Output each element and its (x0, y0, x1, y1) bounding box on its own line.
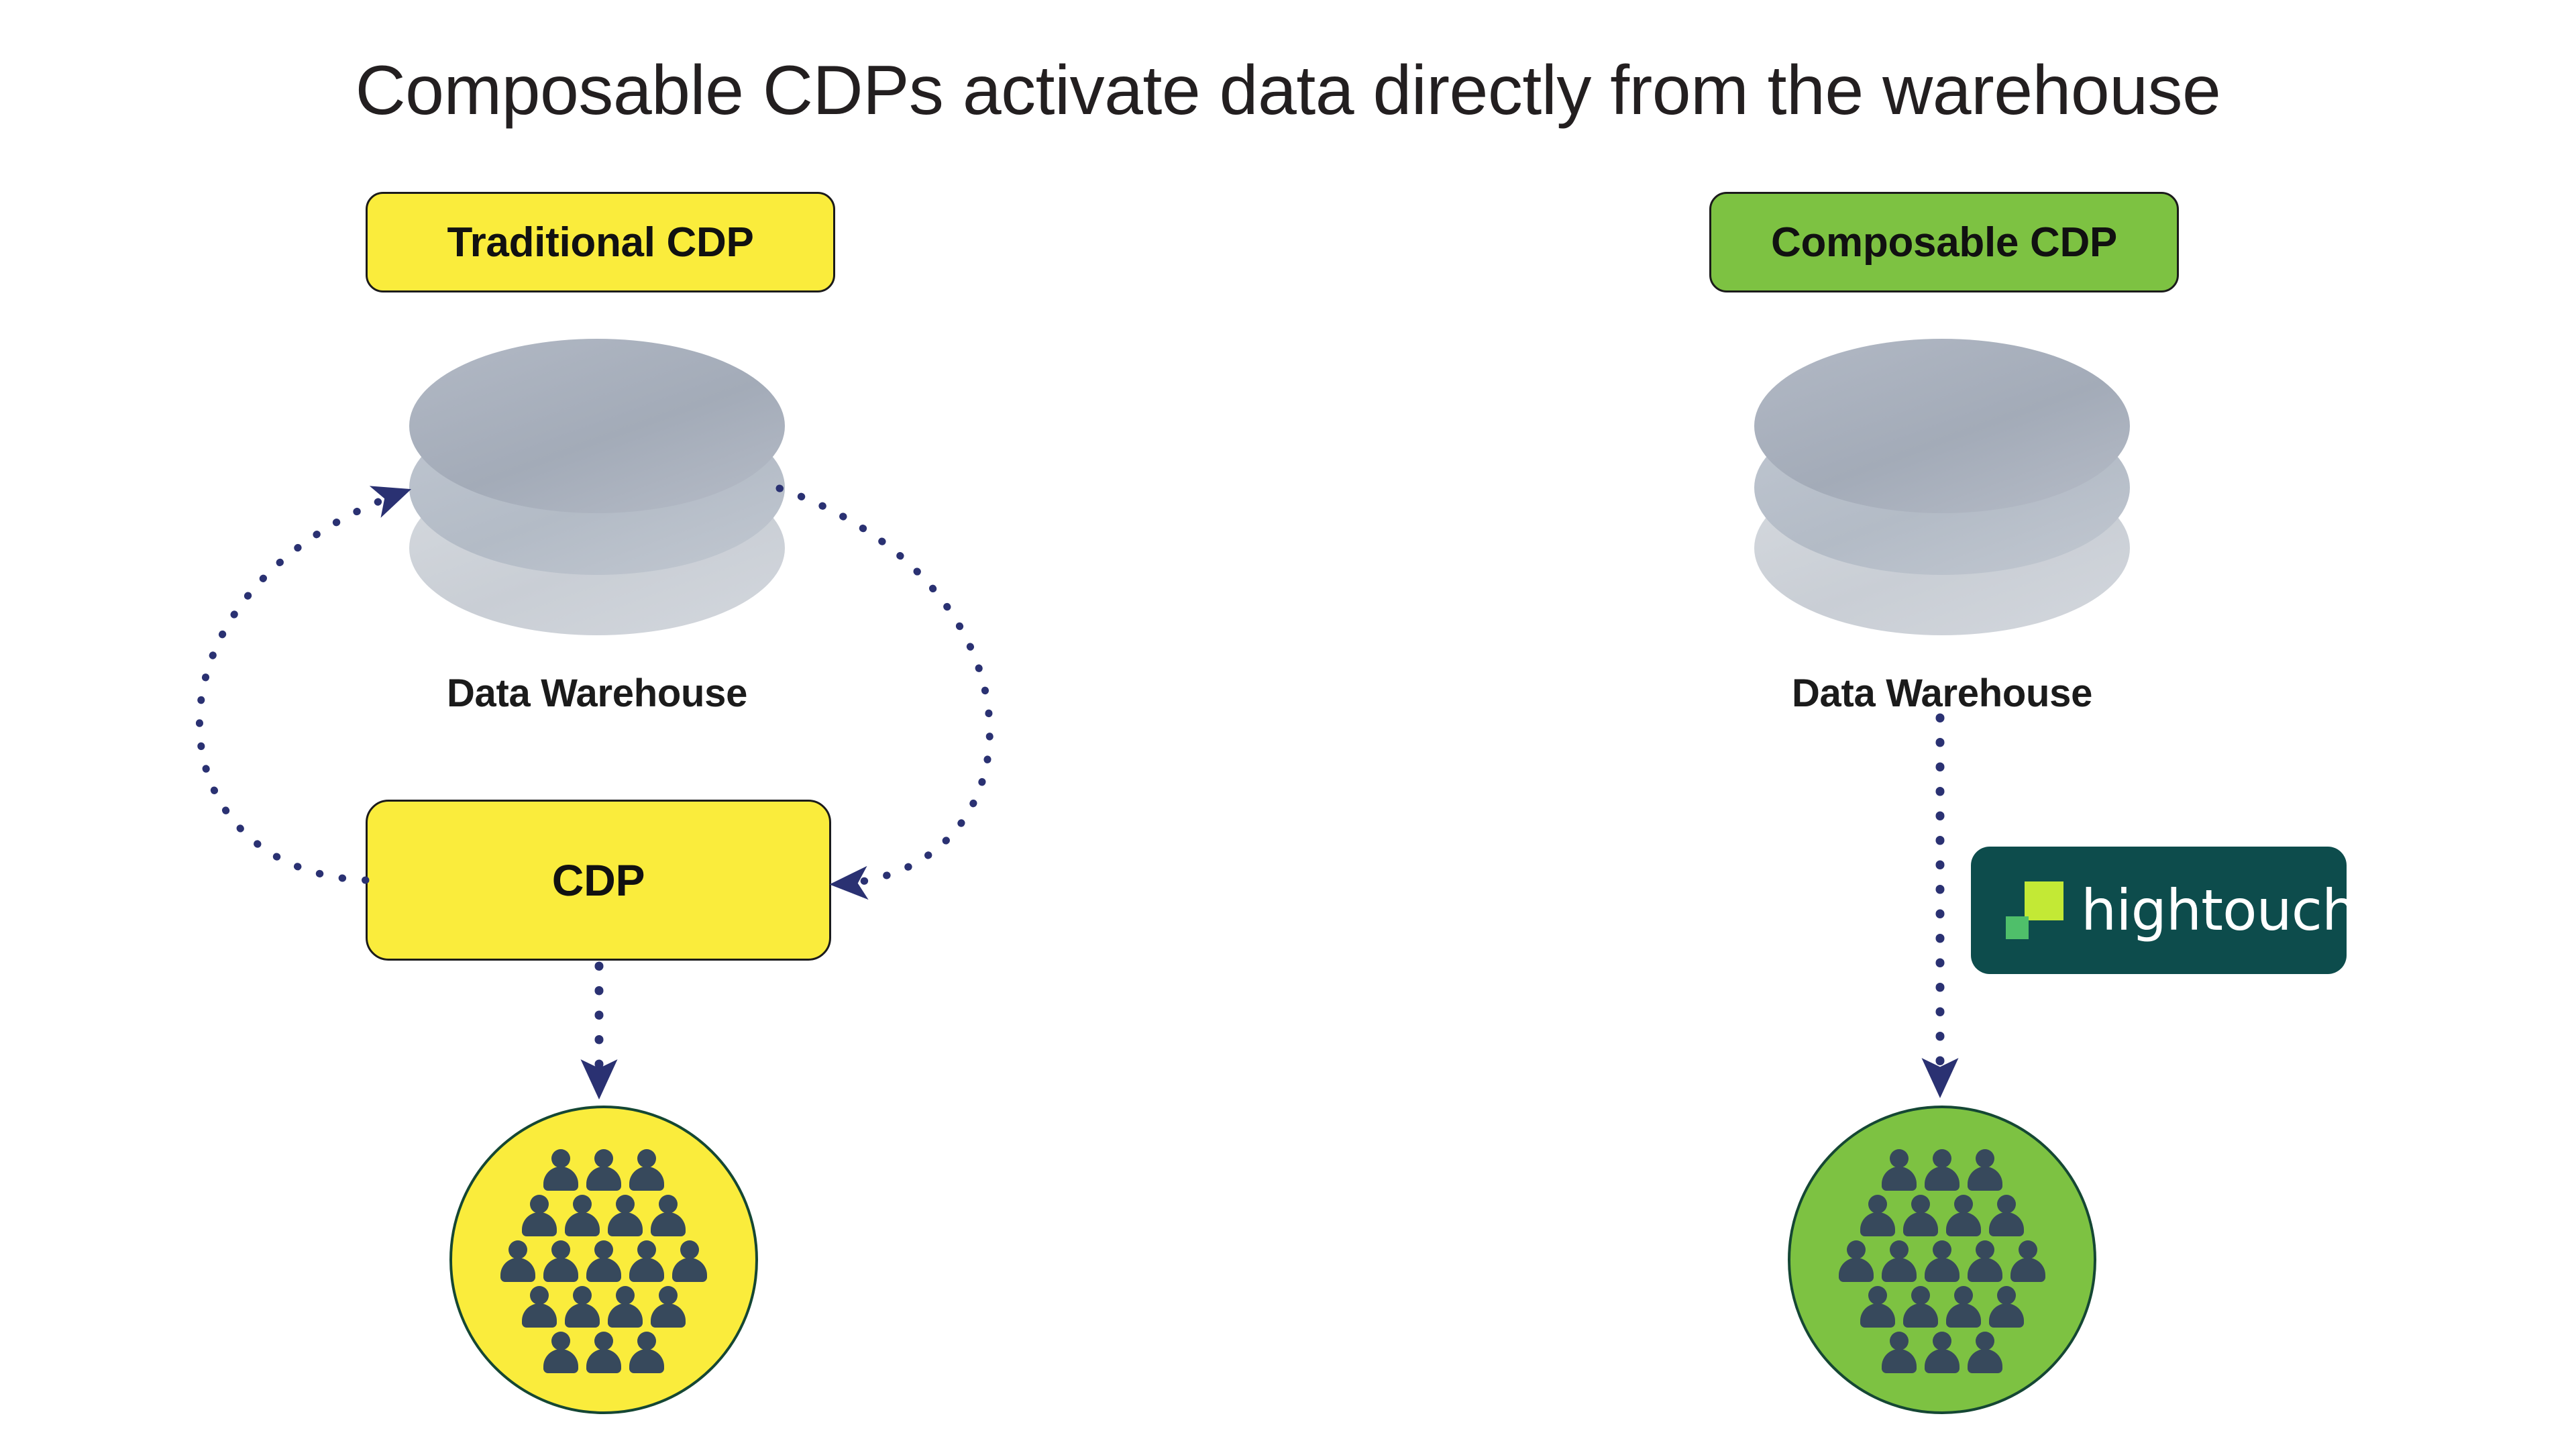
person-head (1933, 1149, 1951, 1168)
cdp-box: CDP (366, 800, 831, 961)
person-body (1903, 1212, 1938, 1236)
audience-row (543, 1332, 665, 1373)
person-body (565, 1212, 600, 1236)
person-body (651, 1303, 686, 1328)
person-head (637, 1240, 656, 1259)
person-icon (672, 1240, 708, 1282)
db-disc-top (1754, 339, 2130, 513)
audience-circle-traditional (449, 1106, 758, 1414)
person-body (1946, 1303, 1981, 1328)
person-icon (1967, 1240, 2003, 1282)
person-head (551, 1240, 570, 1259)
person-head (616, 1195, 635, 1214)
person-icon (629, 1332, 665, 1373)
audience-row (1881, 1149, 2003, 1191)
person-icon (586, 1149, 622, 1191)
person-icon (607, 1286, 643, 1328)
person-body (543, 1258, 578, 1282)
person-head (637, 1149, 656, 1168)
person-icon (500, 1240, 536, 1282)
person-head (1976, 1332, 1994, 1350)
person-icon (1860, 1286, 1896, 1328)
person-head (594, 1332, 613, 1350)
person-head (530, 1195, 549, 1214)
person-body (1882, 1167, 1917, 1191)
person-head (1954, 1195, 1973, 1214)
person-icon (1967, 1149, 2003, 1191)
person-body (1925, 1167, 1960, 1191)
person-icon (1988, 1286, 2025, 1328)
person-icon (1945, 1195, 1982, 1236)
data-warehouse-label-right: Data Warehouse (1640, 671, 2244, 716)
person-head (1890, 1149, 1909, 1168)
person-head (616, 1286, 635, 1305)
person-head (551, 1149, 570, 1168)
person-body (1839, 1258, 1874, 1282)
person-head (1933, 1240, 1951, 1259)
person-body (1903, 1303, 1938, 1328)
person-head (2019, 1240, 2037, 1259)
person-icon (650, 1195, 686, 1236)
person-body (672, 1258, 707, 1282)
person-body (1925, 1349, 1960, 1373)
person-head (1997, 1286, 2016, 1305)
hightouch-wordmark: hightouch (2081, 882, 2357, 938)
person-head (1890, 1332, 1909, 1350)
hightouch-squares-mark-icon (2006, 881, 2063, 939)
person-head (1911, 1286, 1930, 1305)
db-disc-top (409, 339, 785, 513)
person-body (1925, 1258, 1960, 1282)
person-icon (1988, 1195, 2025, 1236)
person-icon (543, 1240, 579, 1282)
person-head (508, 1240, 527, 1259)
logo-square-large (2025, 881, 2063, 920)
logo-square-small (2006, 916, 2029, 939)
person-body (586, 1167, 621, 1191)
person-body (1946, 1212, 1981, 1236)
person-head (1890, 1240, 1909, 1259)
audience-row (1860, 1286, 2025, 1328)
person-head (1868, 1195, 1887, 1214)
audience-row (500, 1240, 708, 1282)
person-body (543, 1167, 578, 1191)
person-body (543, 1349, 578, 1373)
person-body (1989, 1212, 2024, 1236)
audience-row (1860, 1195, 2025, 1236)
diagram-canvas: Composable CDPs activate data directly f… (0, 0, 2576, 1449)
person-body (2010, 1258, 2045, 1282)
person-body (522, 1303, 557, 1328)
person-body (629, 1167, 664, 1191)
person-icon (1860, 1195, 1896, 1236)
person-body (565, 1303, 600, 1328)
person-body (500, 1258, 535, 1282)
person-head (1933, 1332, 1951, 1350)
person-body (608, 1303, 643, 1328)
composable-cdp-badge: Composable CDP (1709, 192, 2179, 292)
person-icon (1902, 1195, 1939, 1236)
audience-row (1881, 1332, 2003, 1373)
person-body (1882, 1258, 1917, 1282)
person-head (594, 1240, 613, 1259)
person-icon (543, 1332, 579, 1373)
database-stack-icon-left (409, 339, 785, 641)
person-head (659, 1195, 678, 1214)
person-icon (650, 1286, 686, 1328)
person-head (1847, 1240, 1866, 1259)
person-body (1989, 1303, 2024, 1328)
person-head (594, 1149, 613, 1168)
person-head (551, 1332, 570, 1350)
person-icon (1838, 1240, 1874, 1282)
person-icon (1924, 1240, 1960, 1282)
audience-circle-composable (1788, 1106, 2096, 1414)
person-icon (586, 1240, 622, 1282)
person-head (1976, 1240, 1994, 1259)
person-head (1976, 1149, 1994, 1168)
person-head (1954, 1286, 1973, 1305)
person-body (629, 1258, 664, 1282)
person-body (1968, 1167, 2002, 1191)
traditional-cdp-badge: Traditional CDP (366, 192, 835, 292)
person-body (1860, 1212, 1895, 1236)
person-icon (1967, 1332, 2003, 1373)
audience-row (1838, 1240, 2046, 1282)
person-icon (1902, 1286, 1939, 1328)
person-body (1968, 1349, 2002, 1373)
audience-row (543, 1149, 665, 1191)
hightouch-logo: hightouch (1971, 847, 2347, 974)
person-icon (586, 1332, 622, 1373)
person-icon (1945, 1286, 1982, 1328)
person-icon (521, 1286, 557, 1328)
person-body (522, 1212, 557, 1236)
audience-row (521, 1286, 686, 1328)
person-body (586, 1258, 621, 1282)
person-icon (564, 1286, 600, 1328)
person-head (1868, 1286, 1887, 1305)
person-body (1968, 1258, 2002, 1282)
person-icon (1881, 1240, 1917, 1282)
person-head (659, 1286, 678, 1305)
person-body (608, 1212, 643, 1236)
person-head (573, 1286, 592, 1305)
person-icon (607, 1195, 643, 1236)
person-head (1997, 1195, 2016, 1214)
person-icon (564, 1195, 600, 1236)
person-head (680, 1240, 699, 1259)
database-stack-icon-right (1754, 339, 2130, 641)
data-warehouse-label-left: Data Warehouse (295, 671, 899, 716)
person-head (637, 1332, 656, 1350)
page-title: Composable CDPs activate data directly f… (0, 52, 2576, 129)
person-icon (1881, 1332, 1917, 1373)
person-body (629, 1349, 664, 1373)
person-body (1882, 1349, 1917, 1373)
person-head (573, 1195, 592, 1214)
person-icon (1924, 1332, 1960, 1373)
person-icon (2010, 1240, 2046, 1282)
person-body (651, 1212, 686, 1236)
audience-row (521, 1195, 686, 1236)
person-icon (1881, 1149, 1917, 1191)
person-icon (629, 1149, 665, 1191)
person-icon (629, 1240, 665, 1282)
person-icon (543, 1149, 579, 1191)
person-head (530, 1286, 549, 1305)
person-icon (521, 1195, 557, 1236)
person-body (586, 1349, 621, 1373)
person-icon (1924, 1149, 1960, 1191)
person-head (1911, 1195, 1930, 1214)
person-body (1860, 1303, 1895, 1328)
